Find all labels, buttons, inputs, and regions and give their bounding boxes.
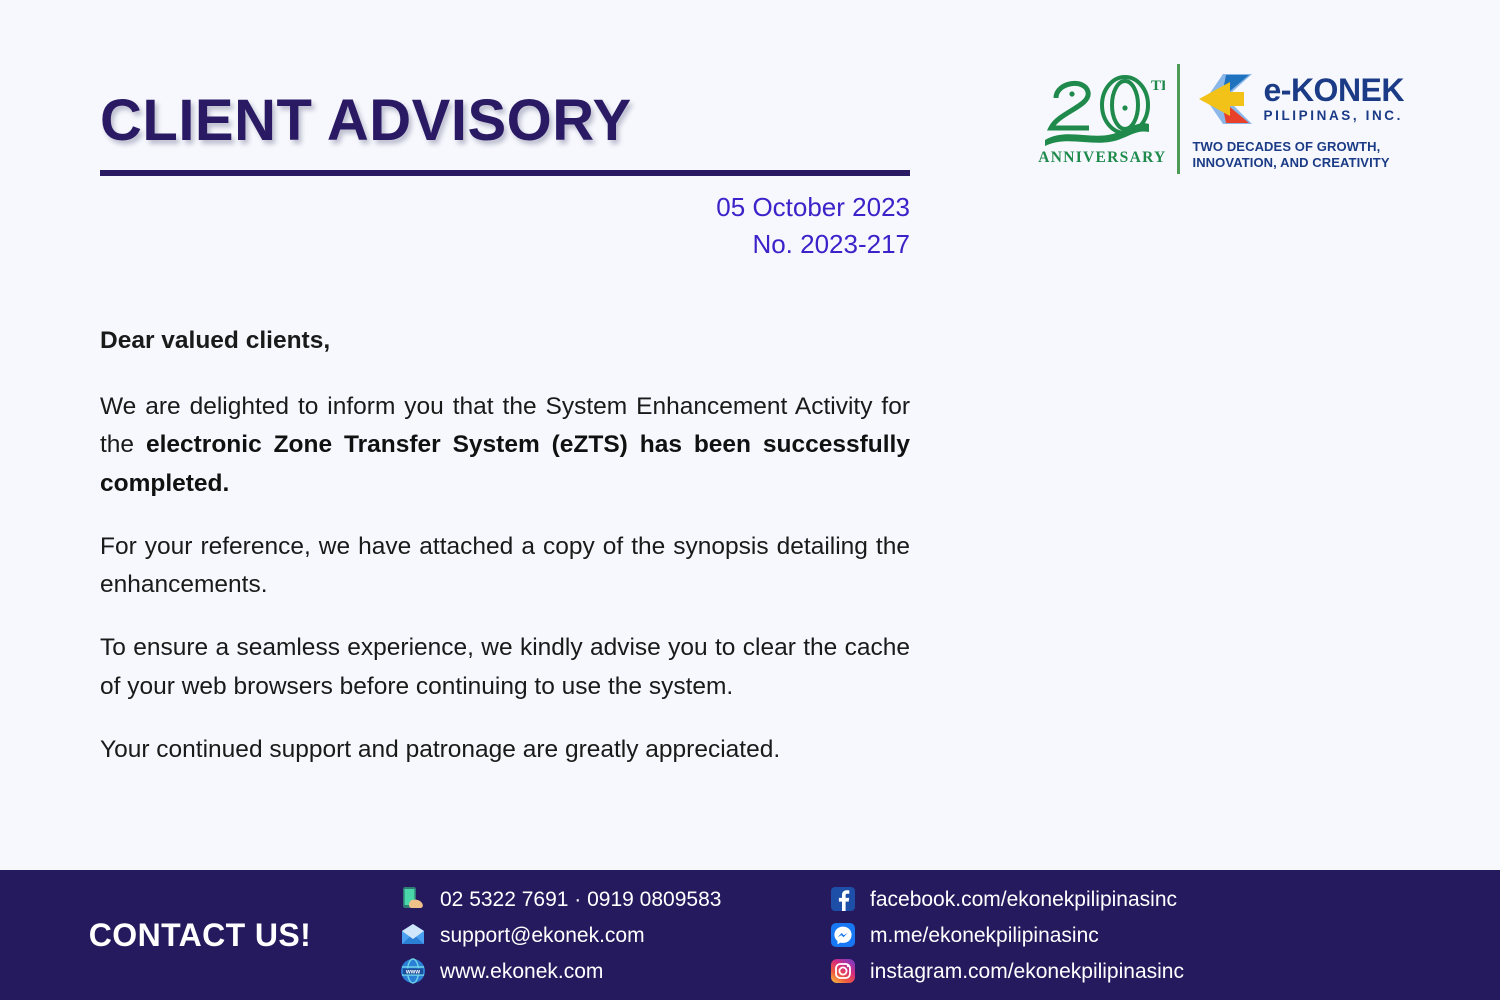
ekonek-tagline-line-1: TWO DECADES OF GROWTH,	[1192, 139, 1404, 155]
anniversary-label: ANNIVERSARY	[1038, 149, 1166, 167]
paragraph-closing: Your continued support and patronage are…	[100, 731, 910, 769]
paragraph-announcement: We are delighted to inform you that the …	[100, 388, 910, 503]
advisory-body: Dear valued clients, We are delighted to…	[100, 322, 910, 769]
globe-www-icon: www	[400, 958, 426, 984]
mobile-phone-icon	[400, 886, 426, 912]
contact-phone-text: 02 5322 7691 · 0919 0809583	[440, 889, 721, 910]
contact-messenger-text: m.me/ekonekpilipinasinc	[870, 925, 1099, 946]
title-divider-rule	[100, 170, 910, 176]
company-logo: TH ANNIVERSARY e-KONEK PILIPINAS, INC. T…	[1032, 60, 1404, 178]
envelope-icon	[400, 922, 426, 948]
contact-instagram-row[interactable]: instagram.com/ekonekpilipinasinc	[830, 958, 1184, 984]
contact-email-text: support@ekonek.com	[440, 925, 645, 946]
client-advisory-page: CLIENT ADVISORY 05 October 2023 No. 2023…	[0, 0, 1500, 1000]
anniversary-20-icon: TH	[1039, 72, 1165, 148]
ekonek-brand-block: e-KONEK PILIPINAS, INC. TWO DECADES OF G…	[1192, 60, 1404, 178]
paragraph-synopsis: For your reference, we have attached a c…	[100, 528, 910, 604]
page-title: CLIENT ADVISORY	[100, 92, 632, 150]
ekonek-company-suffix: PILIPINAS, INC.	[1263, 109, 1404, 123]
ekonek-tagline-line-2: INNOVATION, AND CREATIVITY	[1192, 155, 1404, 171]
contact-website-text: www.ekonek.com	[440, 961, 603, 982]
anniversary-mark: TH ANNIVERSARY	[1032, 60, 1173, 178]
contact-facebook-text: facebook.com/ekonekpilipinasinc	[870, 889, 1177, 910]
ekonek-tagline: TWO DECADES OF GROWTH, INNOVATION, AND C…	[1192, 139, 1404, 171]
salutation: Dear valued clients,	[100, 322, 910, 360]
contact-phone-row[interactable]: 02 5322 7691 · 0919 0809583	[400, 886, 830, 912]
paragraph-announcement-emphasis: electronic Zone Transfer System (eZTS) h…	[100, 431, 910, 496]
document-meta: 05 October 2023 No. 2023-217	[360, 189, 910, 263]
contact-email-row[interactable]: support@ekonek.com	[400, 922, 830, 948]
contact-column-social: facebook.com/ekonekpilipinasinc m.me/eko…	[830, 886, 1184, 984]
ekonek-arrow-mark-icon	[1192, 68, 1254, 130]
logo-divider	[1177, 64, 1181, 174]
paragraph-cache-advice: To ensure a seamless experience, we kind…	[100, 629, 910, 705]
contact-heading: CONTACT US!	[0, 917, 400, 954]
messenger-icon	[830, 922, 856, 948]
svg-text:www: www	[405, 969, 420, 975]
advisory-date: 05 October 2023	[360, 189, 910, 226]
facebook-icon	[830, 886, 856, 912]
contact-column-primary: 02 5322 7691 · 0919 0809583 support@ekon…	[400, 886, 830, 984]
contact-instagram-text: instagram.com/ekonekpilipinasinc	[870, 961, 1184, 982]
contact-messenger-row[interactable]: m.me/ekonekpilipinasinc	[830, 922, 1184, 948]
ekonek-company-name: e-KONEK	[1263, 74, 1404, 106]
instagram-icon	[830, 958, 856, 984]
advisory-reference-number: No. 2023-217	[360, 226, 910, 263]
svg-text:TH: TH	[1151, 78, 1165, 94]
contact-footer: CONTACT US! 02 5322 7691 · 0919 0809583 …	[0, 870, 1500, 1000]
contact-facebook-row[interactable]: facebook.com/ekonekpilipinasinc	[830, 886, 1184, 912]
contact-website-row[interactable]: www www.ekonek.com	[400, 958, 830, 984]
